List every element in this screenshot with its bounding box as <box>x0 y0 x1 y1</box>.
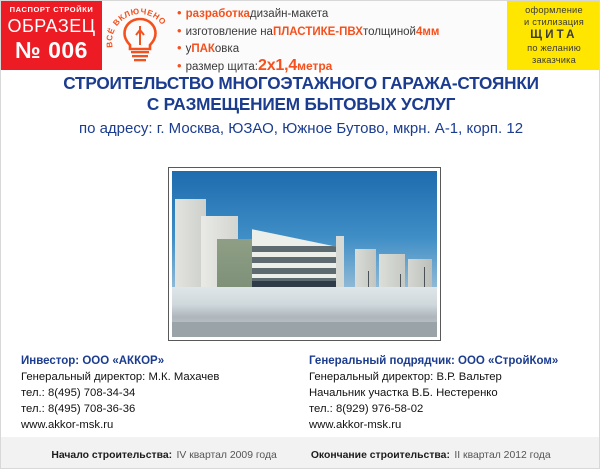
contractor-heading: Генеральный подрядчик: ООО «СтройКом» <box>309 353 600 369</box>
construction-end: Окончание строительства: II квартал 2012… <box>311 445 551 463</box>
investor-column: Инвестор: ООО «АККОР» Генеральный директ… <box>1 353 301 433</box>
construction-end-value: II квартал 2012 года <box>454 450 550 461</box>
construction-dates-bar: Начало строительства: IV квартал 2009 го… <box>1 437 600 469</box>
construction-start-value: IV квартал 2009 года <box>177 450 277 461</box>
customization-shield-word: ЩИТА <box>507 28 600 42</box>
photo-garage-deck <box>252 268 342 274</box>
logo-arc-text: ВСЁ ВКЛЮЧЕНО <box>105 7 168 48</box>
badge-sample-word: ОБРАЗЕЦ <box>1 15 102 37</box>
title-line-1: СТРОИТЕЛЬСТВО МНОГОЭТАЖНОГО ГАРАЖА-СТОЯН… <box>1 73 600 94</box>
feature-item-design: • разработка дизайн-макета <box>177 5 502 23</box>
contractor-website[interactable]: www.akkor-msk.ru <box>309 417 600 433</box>
feature-rest: овка <box>215 42 239 58</box>
sample-badge: ПАСПОРТ СТРОЙКИ ОБРАЗЕЦ № 006 <box>1 1 102 70</box>
feature-rest: толщиной <box>363 25 416 41</box>
contractor-director: Генеральный директор: В.Р. Вальтер <box>309 369 600 385</box>
feature-list: • разработка дизайн-макета • изготовлени… <box>177 5 502 75</box>
svg-text:ВСЁ ВКЛЮЧЕНО: ВСЁ ВКЛЮЧЕНО <box>105 7 168 48</box>
construction-passport-poster: ПАСПОРТ СТРОЙКИ ОБРАЗЕЦ № 006 ВСЁ ВК <box>0 0 600 469</box>
photo-road <box>172 322 437 337</box>
contractor-column: Генеральный подрядчик: ООО «СтройКом» Ге… <box>301 353 600 433</box>
contractor-site-manager: Начальник участка В.Б. Нестеренко <box>309 385 600 401</box>
customization-panel: оформление и стилизация ЩИТА по желанию … <box>507 1 600 70</box>
customization-line-4: заказчика <box>507 54 600 66</box>
feature-thickness: 4мм <box>416 25 439 41</box>
feature-prefix: изготовление на <box>186 25 273 41</box>
feature-strong: ПЛАСТИКЕ-ПВХ <box>273 25 363 41</box>
customization-line-3: по желанию <box>507 42 600 54</box>
project-photo-frame <box>168 167 441 341</box>
photo-garage-deck <box>252 246 342 252</box>
construction-end-label: Окончание строительства: <box>311 450 450 461</box>
project-address: по адресу: г. Москва, ЮЗАО, Южное Бутово… <box>1 118 600 140</box>
top-info-strip: ПАСПОРТ СТРОЙКИ ОБРАЗЕЦ № 006 ВСЁ ВК <box>1 1 600 70</box>
feature-item-packaging: • у ПАК овка <box>177 40 502 58</box>
badge-number: № 006 <box>1 37 102 63</box>
investor-heading: Инвестор: ООО «АККОР» <box>21 353 301 369</box>
bullet-dot-icon: • <box>177 58 182 74</box>
construction-start: Начало строительства: IV квартал 2009 го… <box>51 445 276 463</box>
bullet-dot-icon: • <box>177 40 182 56</box>
bullet-dot-icon: • <box>177 23 182 39</box>
contacts-section: Инвестор: ООО «АККОР» Генеральный директ… <box>1 353 600 433</box>
investor-director: Генеральный директор: М.К. Махачев <box>21 369 301 385</box>
photo-garage-deck <box>252 257 342 263</box>
feature-size-value: 2х1,4 <box>258 58 297 74</box>
investor-phone-1: тел.: 8(495) 708-34-34 <box>21 385 301 401</box>
feature-strong: ПАК <box>191 42 215 58</box>
page-title: СТРОИТЕЛЬСТВО МНОГОЭТАЖНОГО ГАРАЖА-СТОЯН… <box>1 73 600 140</box>
bullet-dot-icon: • <box>177 5 182 21</box>
project-photo <box>172 171 437 337</box>
customization-line-1: оформление <box>507 4 600 16</box>
customization-line-2: и стилизация <box>507 16 600 28</box>
lightbulb-icon: ВСЁ ВКЛЮЧЕНО <box>105 2 175 69</box>
badge-kicker: ПАСПОРТ СТРОЙКИ <box>1 4 102 15</box>
contractor-phone: тел.: 8(929) 976-58-02 <box>309 401 600 417</box>
investor-phone-2: тел.: 8(495) 708-36-36 <box>21 401 301 417</box>
feature-item-material: • изготовление на ПЛАСТИКЕ-ПВХ толщиной … <box>177 23 502 41</box>
investor-website[interactable]: www.akkor-msk.ru <box>21 417 301 433</box>
title-line-2: С РАЗМЕЩЕНИЕМ БЫТОВЫХ УСЛУГ <box>1 94 600 115</box>
feature-rest: дизайн-макета <box>250 7 328 23</box>
construction-start-label: Начало строительства: <box>51 450 172 461</box>
feature-strong: разработка <box>186 7 250 23</box>
feature-size-unit: метра <box>297 59 332 75</box>
